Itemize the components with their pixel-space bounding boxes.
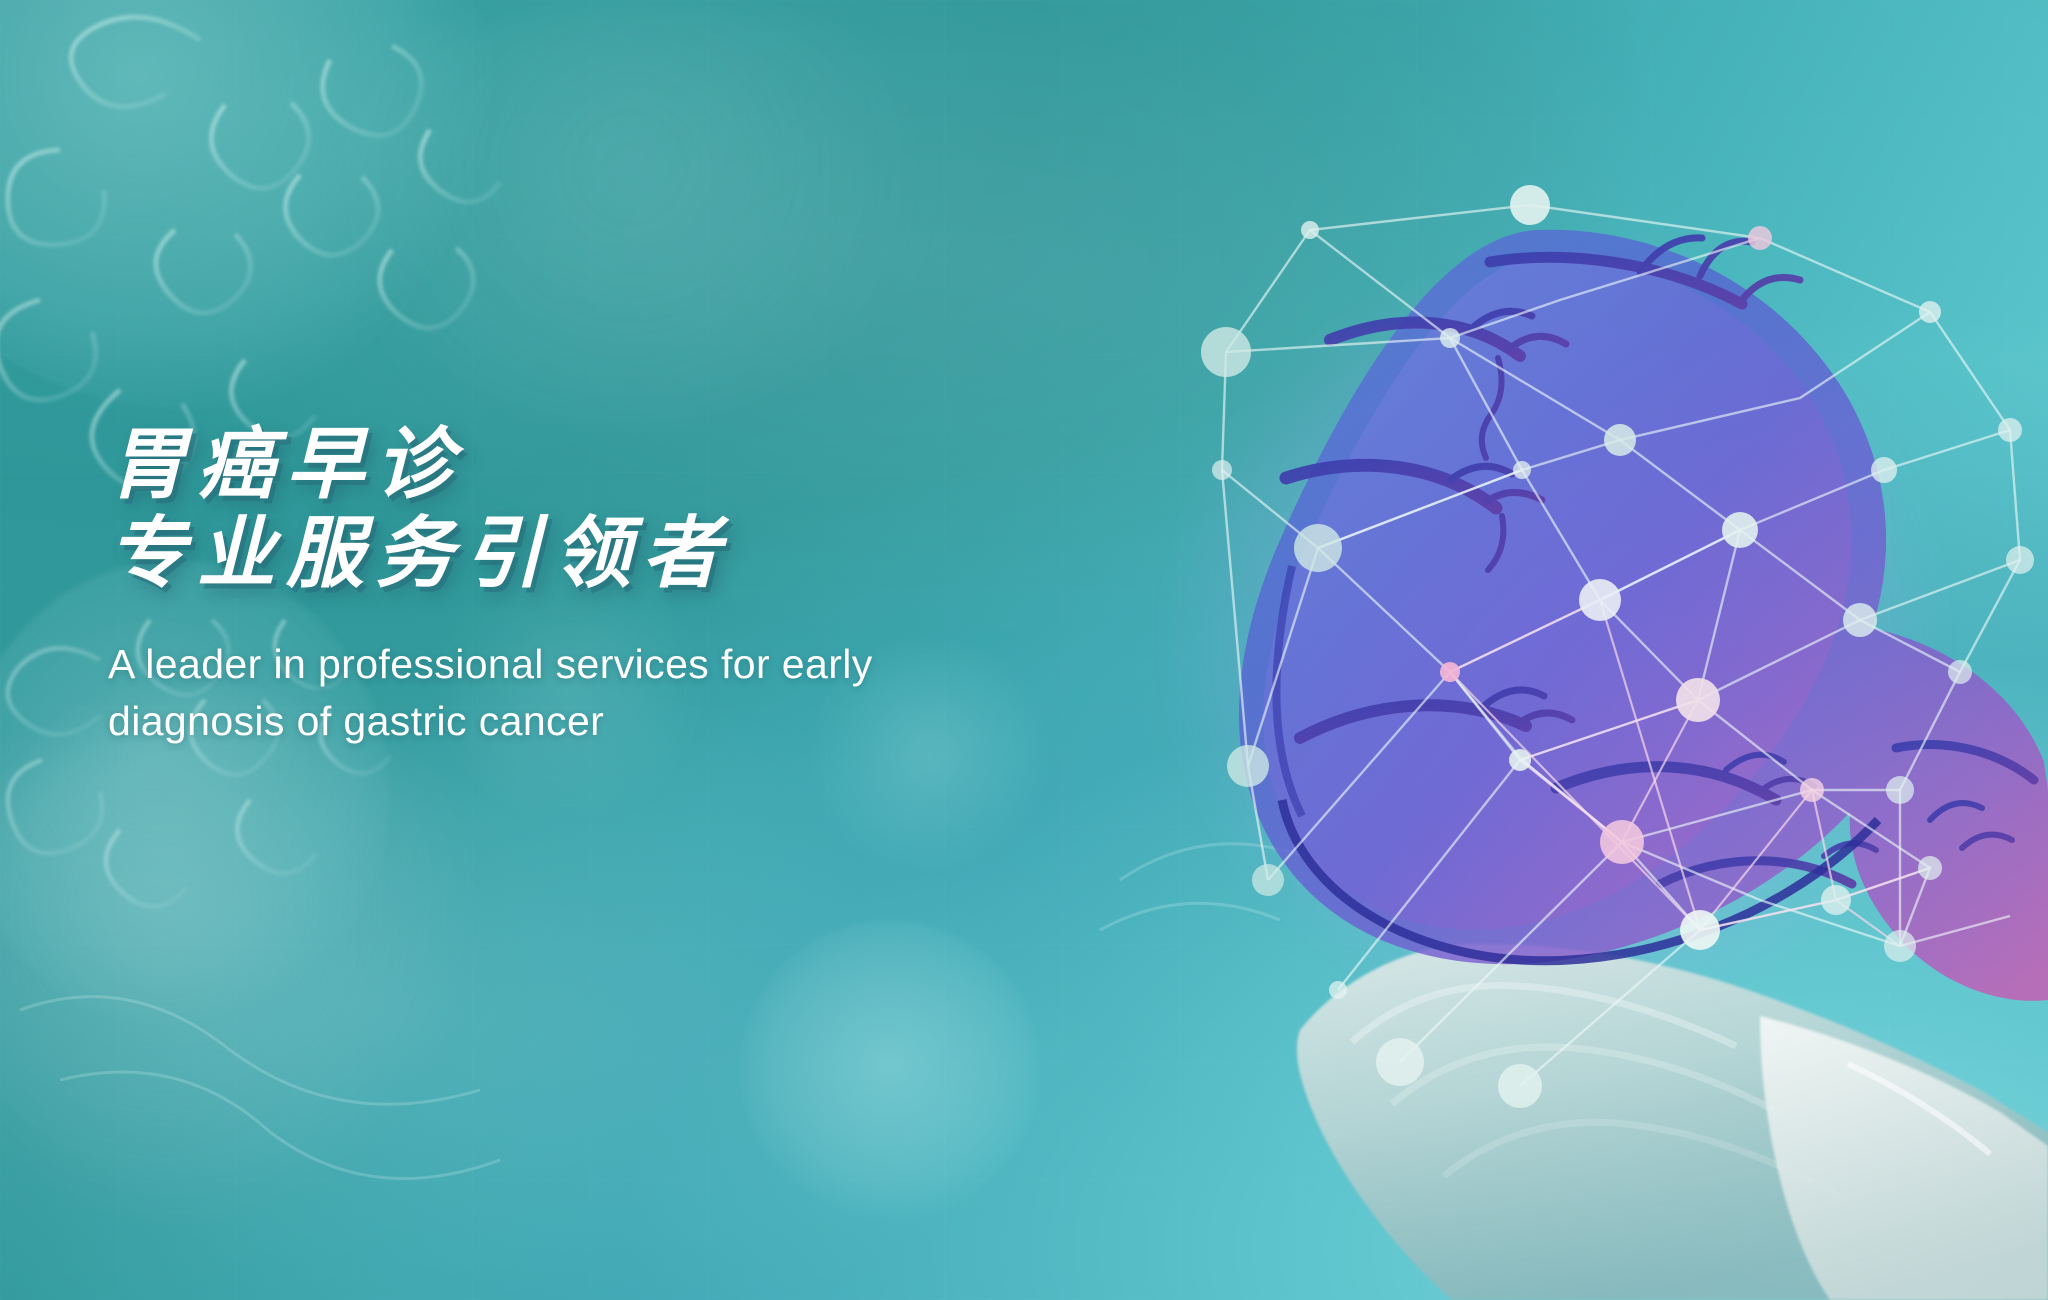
hero-banner: 胃癌早诊 专业服务引领者 A leader in professional se… bbox=[0, 0, 2048, 1300]
vignette-overlay bbox=[0, 0, 2048, 1300]
